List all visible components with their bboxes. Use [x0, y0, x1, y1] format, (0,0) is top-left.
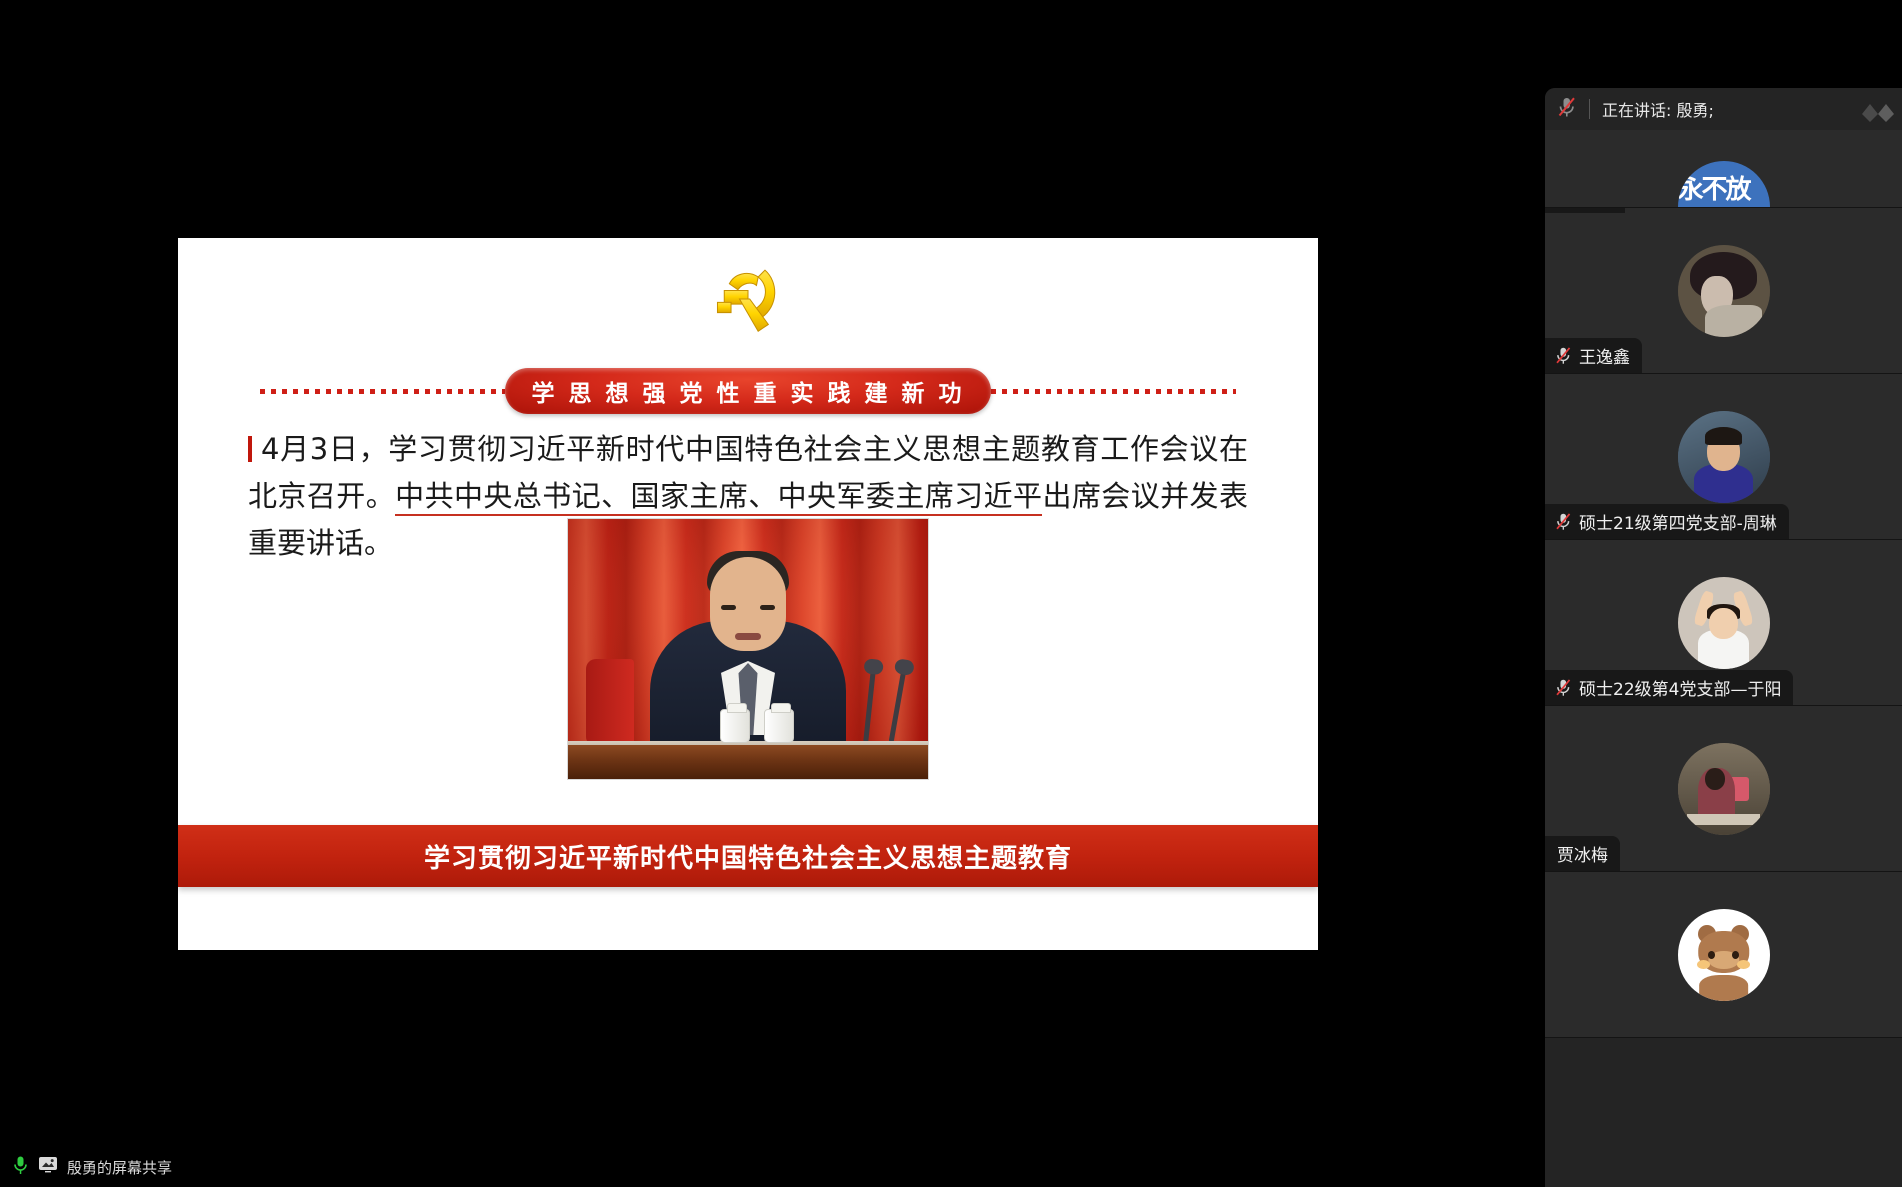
participant-tile[interactable]: [1545, 872, 1902, 1038]
collapse-icon[interactable]: [1852, 92, 1898, 126]
participant-name-chip: 贾冰梅: [1545, 836, 1620, 871]
paragraph-accent-tick: [248, 436, 252, 462]
avatar: [1678, 577, 1770, 669]
participant-name-chip: 硕士22级第4党支部—于阳: [1545, 670, 1793, 705]
tea-cup-2: [764, 709, 794, 743]
microphone-muted-icon: [1554, 678, 1573, 697]
panel-header: 正在讲话: 殷勇;: [1545, 88, 1902, 130]
microphone-muted-icon: [1554, 512, 1573, 531]
screen-share-label: 殷勇的屏幕共享: [67, 1157, 172, 1178]
screen-share-icon[interactable]: [38, 1156, 58, 1178]
participant-name-chip: 硕士21级第四党支部-周琳: [1545, 504, 1789, 539]
participant-name-chip: 王逸鑫: [1545, 338, 1642, 373]
slogan-ribbon-text: 学 思 想 强 党 性 重 实 践 建 新 功: [531, 374, 964, 408]
dotted-line-right: [991, 389, 1236, 394]
avatar-initials: 永不放弃: [1678, 169, 1770, 208]
participants-panel[interactable]: 正在讲话: 殷勇; 永不放弃: [1545, 88, 1902, 1187]
avatar: [1678, 909, 1770, 1001]
paragraph-line-2a: 开。: [336, 479, 395, 513]
active-speaker-label: 正在讲话: 殷勇;: [1602, 97, 1714, 121]
participant-name: 硕士22级第4党支部—于阳: [1579, 675, 1781, 700]
participant-name: 硕士21级第四党支部-周琳: [1579, 509, 1777, 534]
microphone-active-icon[interactable]: [12, 1155, 29, 1180]
slide-bottom-banner: 学习贯彻习近平新时代中国特色社会主义思想主题教育: [178, 825, 1318, 887]
participant-tile[interactable]: 硕士22级第4党支部—于阳: [1545, 540, 1902, 706]
microphone-muted-icon: [1554, 346, 1573, 365]
participant-tile[interactable]: 永不放弃: [1545, 130, 1902, 208]
presentation-slide[interactable]: 学 思 想 强 党 性 重 实 践 建 新 功 4月3日，学习贯彻习近平新时代中…: [178, 238, 1318, 950]
paragraph-line-2b-underlined: 中共中央总书记、国家主席、中央军委主席习近平: [395, 479, 1042, 516]
avatar: [1678, 743, 1770, 835]
participant-tile[interactable]: 宋璇 王逸鑫: [1545, 208, 1902, 374]
cpc-hammer-sickle-emblem: [705, 260, 791, 338]
dotted-line-left: [260, 389, 505, 394]
slide-bottom-banner-text: 学习贯彻习近平新时代中国特色社会主义思想主题教育: [424, 838, 1072, 875]
participant-tile[interactable]: 硕士21级第四党支部-周琳: [1545, 374, 1902, 540]
avatar: [1678, 245, 1770, 337]
participant-name-chip: 宋璇: [1545, 208, 1625, 213]
screen-share-status-bar: 殷勇的屏幕共享: [0, 1147, 1545, 1187]
participant-tile[interactable]: 贾冰梅: [1545, 706, 1902, 872]
participant-name: 王逸鑫: [1579, 343, 1630, 368]
microphone-muted-icon: [1557, 96, 1577, 123]
slogan-ribbon: 学 思 想 强 党 性 重 实 践 建 新 功: [505, 368, 990, 414]
person-mouth: [735, 633, 761, 640]
participant-tiles: 永不放弃: [1545, 130, 1902, 1038]
slogan-ribbon-row: 学 思 想 强 党 性 重 实 践 建 新 功: [178, 368, 1318, 414]
avatar: [1678, 411, 1770, 503]
chair: [586, 659, 634, 745]
avatar: 永不放弃: [1678, 161, 1770, 208]
participant-name: 贾冰梅: [1557, 841, 1608, 866]
tea-cup-1: [720, 709, 750, 743]
meeting-photo: [567, 518, 929, 780]
header-divider: [1589, 99, 1590, 119]
person-eyes: [721, 605, 775, 610]
table-front: [568, 745, 928, 779]
meeting-screen: 学 思 想 强 党 性 重 实 践 建 新 功 4月3日，学习贯彻习近平新时代中…: [0, 0, 1902, 1187]
shared-screen-area[interactable]: 学 思 想 强 党 性 重 实 践 建 新 功 4月3日，学习贯彻习近平新时代中…: [0, 0, 1545, 1187]
